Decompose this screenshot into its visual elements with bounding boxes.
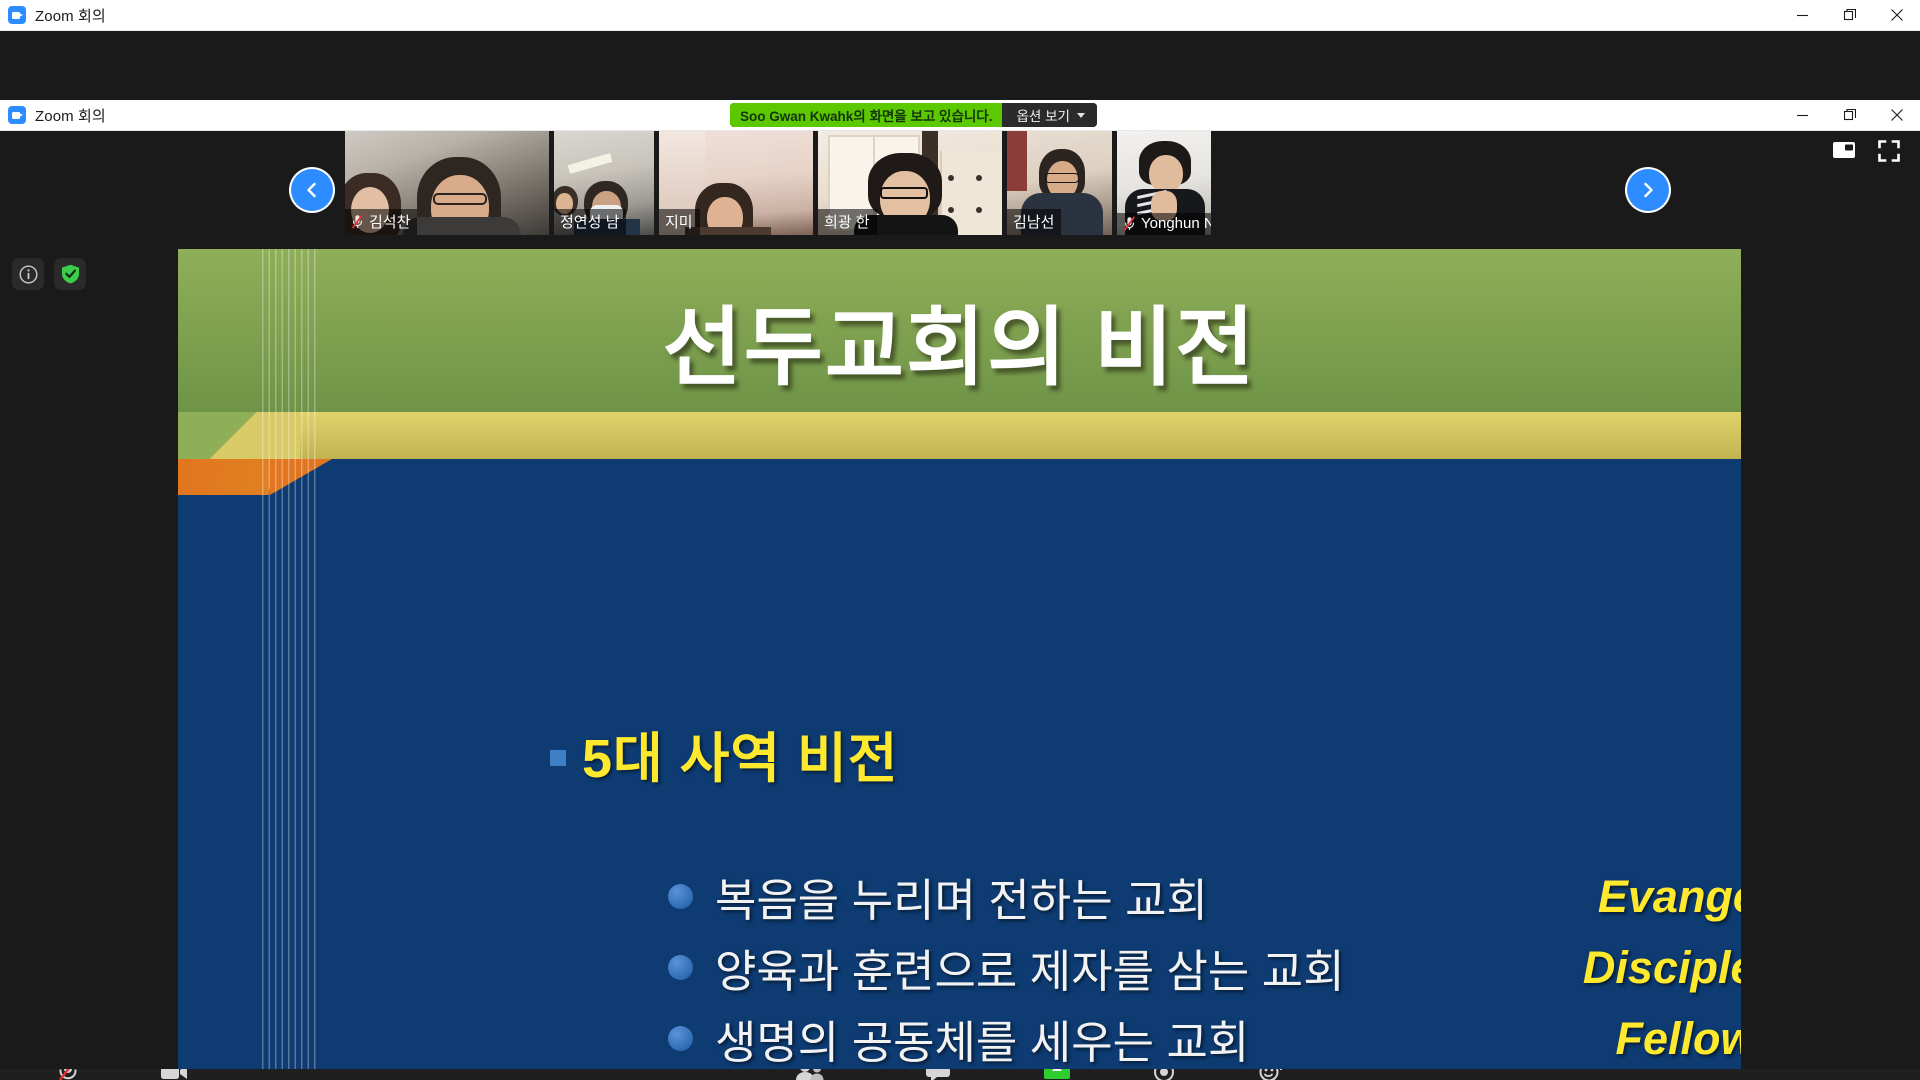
outer-window-title: Zoom 회의 (35, 5, 106, 26)
minimize-button[interactable] (1779, 100, 1826, 131)
participant-tile[interactable]: Yonghun Noh (1117, 131, 1211, 235)
outer-window-titlebar: Zoom 회의 (0, 0, 1920, 31)
view-controls (1832, 140, 1900, 162)
slide-band-corner (178, 412, 300, 459)
participant-name-badge: 김남선 (1007, 209, 1061, 235)
encryption-status-button[interactable] (54, 258, 86, 290)
round-bullet-icon (668, 1026, 693, 1051)
microphone-muted-icon (351, 214, 364, 229)
participant-name-badge: 김석찬 (345, 209, 417, 235)
vision-korean-text: 생명의 공동체를 세우는 교회 (715, 1006, 1249, 1069)
participant-name: 지미 (665, 211, 693, 232)
reactions-icon (1258, 1069, 1286, 1080)
screen-share-banner: Soo Gwan Kwahk의 화면을 보고 있습니다. 옵션 보기 (730, 103, 1097, 127)
view-options-button[interactable]: 옵션 보기 (1002, 103, 1096, 127)
maximize-restore-button[interactable] (1826, 100, 1873, 131)
participant-tile[interactable]: 김석찬 (345, 131, 549, 235)
vision-english-text: Discipleship (1583, 942, 1741, 993)
record-button[interactable] (1152, 1069, 1178, 1080)
view-options-label: 옵션 보기 (1016, 105, 1069, 125)
close-button[interactable] (1873, 0, 1920, 31)
minimize-button[interactable] (1779, 0, 1826, 31)
zoom-logo-icon (8, 6, 26, 24)
participant-name: 희광 한 (824, 211, 870, 232)
inner-window-title: Zoom 회의 (35, 105, 106, 126)
vision-item: 양육과 훈련으로 제자를 삼는 교회 Discipleship (668, 932, 1741, 1003)
share-status-text: Soo Gwan Kwahk의 화면을 보고 있습니다. (730, 103, 1002, 127)
vision-korean-text: 양육과 훈련으로 제자를 삼는 교회 (715, 935, 1345, 1000)
filmstrip-next-button[interactable] (1627, 169, 1669, 211)
chevron-right-icon (1638, 180, 1658, 200)
vision-item: 복음을 누리며 전하는 교회 Evangelism (668, 861, 1741, 932)
participants-button[interactable] (795, 1069, 821, 1080)
section-heading-text: 5대 사역 비전 (582, 714, 898, 793)
participant-tiles: 김석찬 정연성 남 (345, 131, 1211, 235)
mute-audio-button[interactable] (55, 1069, 81, 1080)
chat-icon (925, 1069, 951, 1080)
chevron-left-icon (302, 180, 322, 200)
participant-name-badge: 희광 한 (818, 209, 877, 235)
maximize-restore-button[interactable] (1826, 0, 1873, 31)
meeting-info-icon (19, 265, 38, 284)
chat-button[interactable] (925, 1069, 951, 1080)
square-bullet-icon (550, 750, 566, 766)
participant-name-badge: 지미 (659, 209, 700, 235)
participants-icon (795, 1069, 825, 1080)
meeting-info-button[interactable] (12, 258, 44, 290)
video-camera-icon (160, 1069, 188, 1080)
participant-name-badge: Yonghun Noh (1117, 213, 1211, 235)
vision-korean-text: 복음을 누리며 전하는 교회 (715, 864, 1208, 929)
zoom-logo-icon (8, 106, 26, 124)
fullscreen-expand-icon[interactable] (1878, 140, 1900, 162)
shared-screen-slide: 선두교회의 비전 5대 사역 비전 복음을 누리며 전하는 교회 Evangel… (178, 249, 1741, 1069)
participant-tile[interactable]: 김남선 (1007, 131, 1112, 235)
participant-tile[interactable]: 희광 한 (818, 131, 1002, 235)
outer-window-controls (1779, 0, 1920, 31)
vision-list: 복음을 누리며 전하는 교회 Evangelism 양육과 훈련으로 제자를 삼… (668, 861, 1741, 1069)
record-icon (1152, 1069, 1176, 1080)
round-bullet-icon (668, 955, 693, 980)
close-button[interactable] (1873, 100, 1920, 131)
inner-window-controls (1779, 100, 1920, 131)
share-screen-icon (1043, 1069, 1071, 1080)
slide-section-heading: 5대 사역 비전 (550, 714, 898, 793)
participant-name: 정연성 남 (560, 211, 619, 232)
participant-name: 김남선 (1013, 211, 1054, 232)
participant-name: 김석찬 (369, 211, 410, 232)
share-screen-button[interactable] (1043, 1069, 1069, 1080)
participant-name-badge: 정연성 남 (554, 209, 626, 235)
round-bullet-icon (668, 884, 693, 909)
participant-tile[interactable]: 정연성 남 (554, 131, 654, 235)
participant-tile[interactable]: 지미 (659, 131, 813, 235)
slide-accent-band (178, 412, 1741, 459)
meeting-status-icons (12, 258, 86, 290)
zoom-app-window: Zoom 회의 Zoom 회의 (0, 0, 1920, 1080)
meeting-toolbar (0, 1069, 1920, 1080)
view-layout-icon[interactable] (1832, 140, 1856, 160)
slide-orange-triangle (270, 459, 332, 495)
participant-filmstrip: 김석찬 정연성 남 (0, 131, 1920, 249)
slide-title: 선두교회의 비전 (178, 277, 1741, 402)
stop-video-button[interactable] (160, 1069, 186, 1080)
microphone-muted-icon (55, 1069, 81, 1080)
microphone-muted-icon (1123, 216, 1136, 231)
participant-name: Yonghun Noh (1141, 215, 1211, 232)
vision-english-text: Evangelism (1598, 871, 1741, 922)
vision-english-text: Fellowship (1615, 1013, 1741, 1064)
chevron-down-icon (1077, 113, 1085, 118)
vision-item: 생명의 공동체를 세우는 교회 Fellowship (668, 1003, 1741, 1069)
encryption-shield-icon (61, 264, 80, 284)
filmstrip-prev-button[interactable] (291, 169, 333, 211)
reactions-button[interactable] (1258, 1069, 1284, 1080)
